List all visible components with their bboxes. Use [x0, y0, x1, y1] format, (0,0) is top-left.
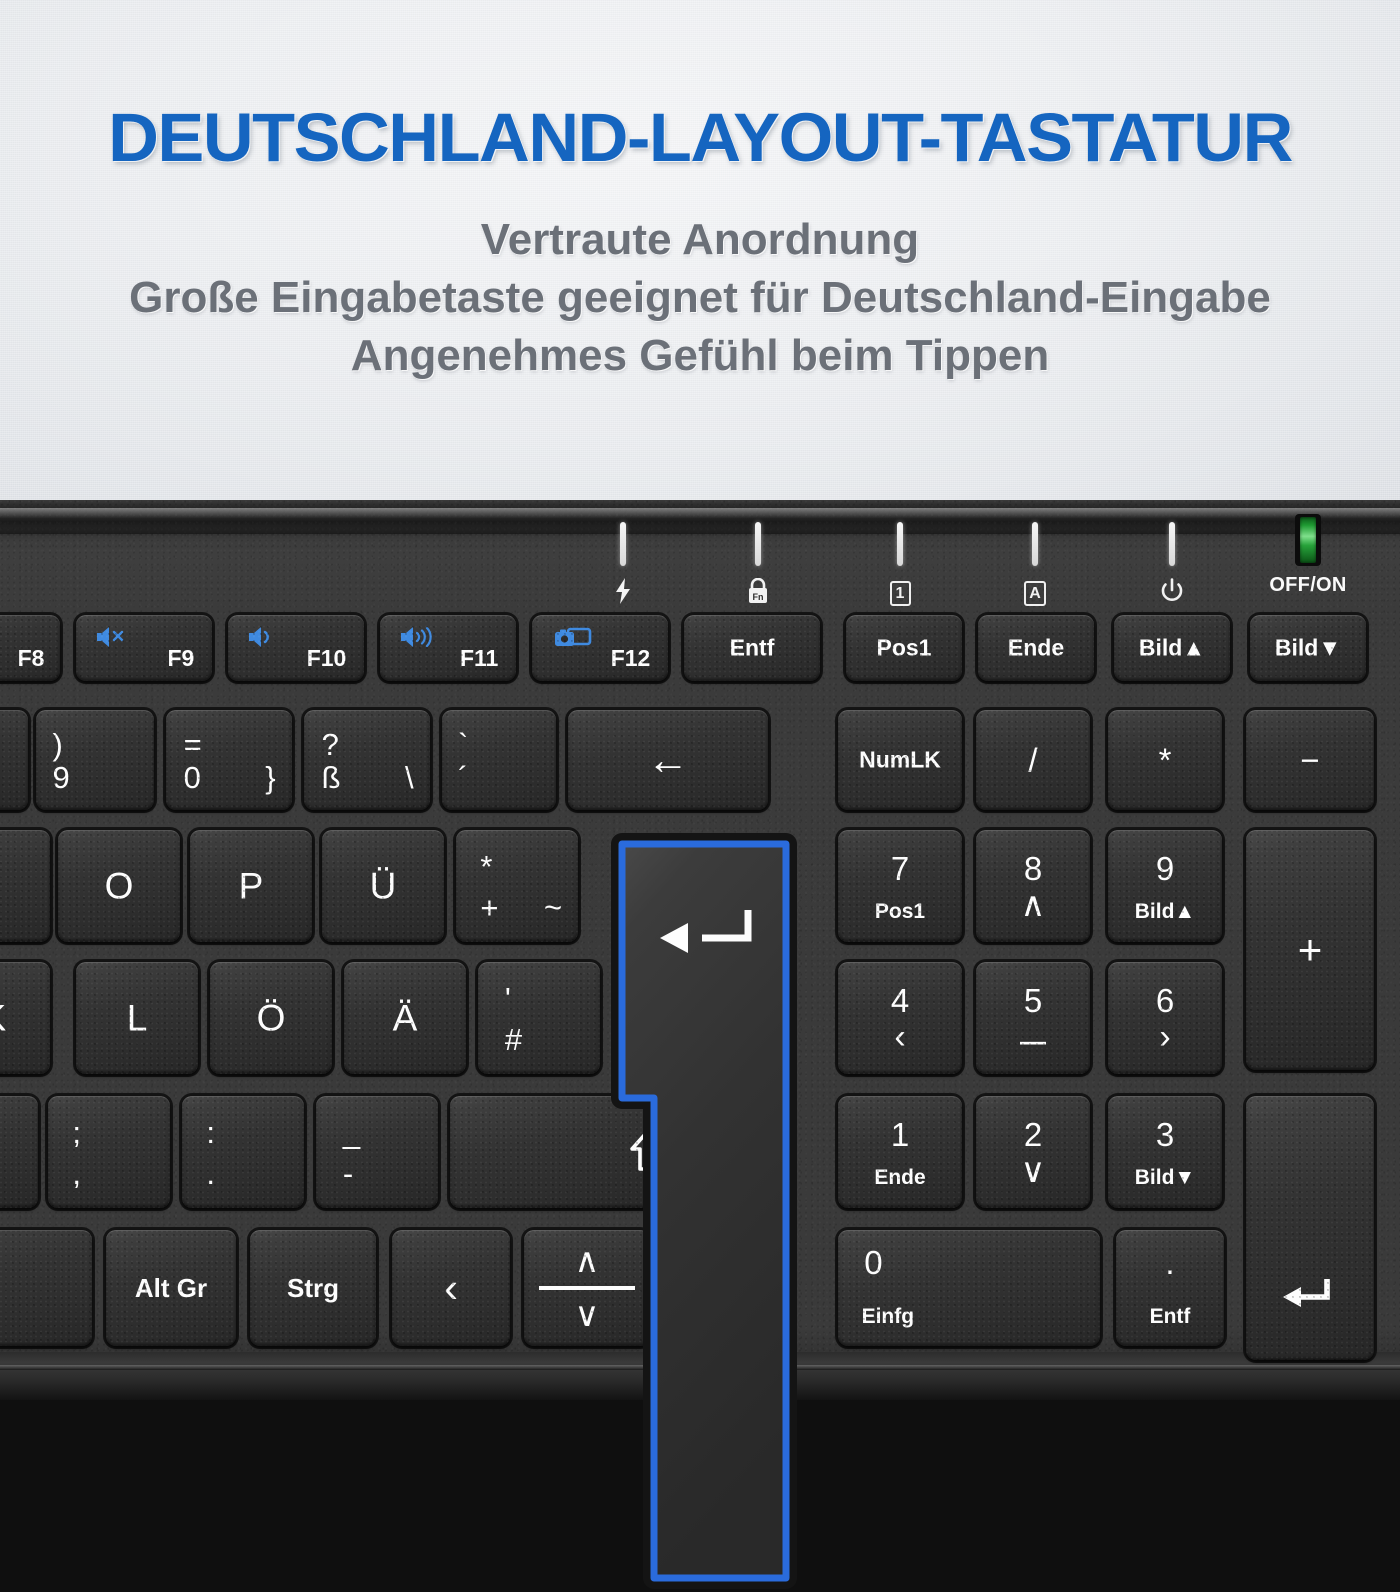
key-0[interactable]: = 0 }	[166, 710, 292, 810]
key-underscore[interactable]: _ -	[316, 1096, 438, 1208]
key-arrow-right[interactable]: ›	[664, 1230, 782, 1346]
key-0-bottom-label: 0	[184, 762, 201, 793]
key-numpad-multiply-label: *	[1108, 744, 1222, 777]
key-plus-top-label: *	[480, 851, 492, 882]
key-numpad-decimal-label: .	[1116, 1246, 1224, 1279]
num-lock-icon: 1	[855, 578, 945, 604]
arrow-up-icon: ∧	[524, 1244, 650, 1278]
key-9-top-label: )	[53, 729, 63, 760]
key-uumlaut[interactable]: Ü	[322, 830, 444, 942]
key-pos1-label: Pos1	[846, 637, 962, 660]
key-bild-down-label: Bild▼	[1250, 637, 1366, 660]
key-bild-up-label: Bild▲	[1114, 637, 1230, 660]
key-numpad-4-label: 4	[838, 984, 962, 1017]
key-numpad-9-sub: Bild▲	[1108, 901, 1222, 922]
key-hash-bottom-label: #	[505, 1024, 522, 1055]
subtitle-line-2: Große Eingabetaste geeignet für Deutschl…	[0, 273, 1400, 323]
key-9-bottom-label: 9	[53, 762, 70, 793]
arrow-key-divider	[539, 1286, 635, 1290]
key-uumlaut-label: Ü	[322, 868, 444, 905]
key-numpad-9[interactable]: 9 Bild▲	[1108, 830, 1222, 942]
key-numpad-6-sub: ›	[1108, 1020, 1222, 1054]
key-semicolon-bottom-label: ,	[72, 1158, 81, 1189]
key-numpad-1-sub: Ende	[838, 1167, 962, 1188]
key-p[interactable]: P	[190, 830, 312, 942]
padlock-fn-glyph: Fn	[745, 578, 771, 606]
fn-lock-icon: Fn	[713, 578, 803, 604]
screenshot-icon	[554, 626, 594, 657]
keyboard-front-edge	[0, 1352, 1400, 1400]
key-numpad-9-label: 9	[1108, 852, 1222, 885]
key-numpad-0-label: 0	[864, 1246, 882, 1279]
shift-arrow-glyph	[630, 1128, 666, 1172]
key-plus-bottom-label: +	[480, 892, 498, 923]
key-strg-right-label: Strg	[250, 1275, 376, 1301]
key-eszett-top-label: ?	[322, 729, 339, 760]
key-numpad-decimal-sub: Entf	[1116, 1306, 1224, 1327]
key-numpad-7-label: 7	[838, 852, 962, 885]
key-bild-down[interactable]: Bild▼	[1250, 615, 1366, 681]
numpad-enter-arrow-icon	[1281, 1277, 1339, 1311]
key-enter[interactable]	[608, 830, 800, 1592]
key-ende-label: Ende	[978, 637, 1094, 660]
promo-banner: DEUTSCHLAND-LAYOUT-TASTATUR Vertraute An…	[0, 0, 1400, 508]
key-numpad-enter[interactable]	[1246, 1096, 1374, 1360]
caps-lock-box-label: A	[1024, 581, 1046, 606]
key-plus-tilde-label: ~	[544, 892, 562, 923]
key-aumlaut[interactable]: Ä	[344, 962, 466, 1074]
key-numpad-minus-label: −	[1246, 744, 1374, 777]
key-numpad-0[interactable]: 0 Einfg	[838, 1230, 1100, 1346]
key-p-label: P	[190, 868, 312, 905]
key-f12[interactable]: F12	[532, 615, 668, 681]
key-numpad-4[interactable]: 4 ‹	[838, 962, 962, 1074]
key-numpad-0-sub: Einfg	[862, 1306, 915, 1327]
arrow-right-icon: ›	[664, 1267, 782, 1309]
key-semicolon-top-label: ;	[72, 1117, 81, 1148]
key-alt-gr[interactable]: Alt Gr	[106, 1230, 236, 1346]
key-numpad-8-label: 8	[976, 852, 1090, 885]
key-numpad-2-label: 2	[976, 1118, 1090, 1151]
key-numpad-7-sub: Pos1	[838, 901, 962, 922]
key-f8-label: F8	[18, 647, 45, 670]
indicator-fn-lock: Fn	[713, 522, 803, 604]
key-arrow-updown[interactable]: ∧ ∨	[524, 1230, 650, 1346]
key-numpad-5[interactable]: 5 —	[976, 962, 1090, 1074]
key-numpad-5-label: 5	[976, 984, 1090, 1017]
key-aumlaut-label: Ä	[344, 1000, 466, 1037]
key-numpad-divide[interactable]: /	[976, 710, 1090, 810]
key-numpad-2-sub: ∨	[976, 1154, 1090, 1188]
key-numpad-plus-label: +	[1246, 929, 1374, 971]
key-accent-bottom-label: ´	[458, 762, 468, 793]
lightning-bolt-icon	[578, 578, 668, 604]
keyboard-deck-highlight	[0, 1365, 1400, 1370]
key-underscore-top-label: _	[343, 1117, 360, 1148]
indicator-charging	[578, 522, 668, 604]
key-numpad-6[interactable]: 6 ›	[1108, 962, 1222, 1074]
key-m[interactable]	[0, 1096, 38, 1208]
key-o-label: O	[58, 868, 180, 905]
key-bild-up[interactable]: Bild▲	[1114, 615, 1230, 681]
key-numpad-4-sub: ‹	[838, 1020, 962, 1054]
key-f8[interactable]: F8	[0, 615, 60, 681]
key-eszett-bottom-right-label: \	[405, 762, 414, 793]
key-oumlaut-label: Ö	[210, 1000, 332, 1037]
key-backspace[interactable]: ←	[568, 710, 768, 810]
key-shift-right[interactable]	[450, 1096, 690, 1208]
key-backspace-label: ←	[568, 739, 768, 781]
power-switch-indicator	[1300, 517, 1316, 563]
key-numpad-3[interactable]: 3 Bild▼	[1108, 1096, 1222, 1208]
key-k[interactable]: K	[0, 962, 50, 1074]
volume-high-icon	[398, 624, 436, 655]
key-enter-shape	[608, 830, 800, 1592]
key-colon-bottom-label: .	[206, 1158, 215, 1189]
key-0-top-label: =	[184, 729, 202, 760]
key-8-alt[interactable]	[0, 710, 28, 810]
key-numpad-plus[interactable]: +	[1246, 830, 1374, 1070]
key-numpad-6-label: 6	[1108, 984, 1222, 1017]
key-strg-right[interactable]: Strg	[250, 1230, 376, 1346]
shift-arrow-icon	[630, 1128, 666, 1176]
subtitle-line-3: Angenehmes Gefühl beim Tippen	[0, 331, 1400, 381]
volume-low-icon	[246, 624, 280, 655]
key-numpad-1-label: 1	[838, 1118, 962, 1151]
arrow-left-icon: ‹	[392, 1267, 510, 1309]
key-f9-label: F9	[167, 647, 194, 670]
volume-mute-icon	[94, 624, 128, 655]
key-f10-label: F10	[307, 647, 347, 670]
subtitle-line-1: Vertraute Anordnung	[0, 215, 1400, 265]
caps-lock-icon: A	[990, 578, 1080, 604]
svg-text:Fn: Fn	[753, 592, 764, 602]
key-i[interactable]	[0, 830, 50, 942]
key-oumlaut[interactable]: Ö	[210, 962, 332, 1074]
key-underscore-bottom-label: -	[343, 1158, 353, 1189]
key-numpad-enter-label	[1246, 1276, 1374, 1318]
power-led	[1169, 522, 1175, 566]
fn-lock-led	[755, 522, 761, 566]
key-f11-label: F11	[460, 647, 498, 670]
key-o[interactable]: O	[58, 830, 180, 942]
key-numlock-label: NumLK	[838, 749, 962, 772]
power-switch-rocker[interactable]	[1295, 514, 1321, 566]
key-l-label: L	[76, 1000, 198, 1037]
key-f12-label: F12	[611, 647, 651, 670]
key-0-bottom-right-label: }	[265, 762, 275, 793]
key-numpad-5-sub: —	[976, 1028, 1090, 1054]
charging-led	[620, 522, 626, 566]
key-numpad-3-sub: Bild▼	[1108, 1167, 1222, 1188]
key-numpad-1[interactable]: 1 Ende	[838, 1096, 962, 1208]
num-lock-led	[897, 522, 903, 566]
key-9[interactable]: ) 9	[36, 710, 154, 810]
power-icon	[1127, 578, 1217, 604]
key-numlock[interactable]: NumLK	[838, 710, 962, 810]
power-switch[interactable]: OFF/ON	[1253, 514, 1363, 597]
key-numpad-multiply[interactable]: *	[1108, 710, 1222, 810]
indicator-num-lock: 1	[855, 522, 945, 604]
indicator-caps-lock: A	[990, 522, 1080, 604]
key-l[interactable]: L	[76, 962, 198, 1074]
key-numpad-8-sub: ∧	[976, 888, 1090, 922]
lightning-bolt-glyph	[614, 578, 632, 604]
key-hash[interactable]: ' #	[478, 962, 600, 1074]
key-space[interactable]	[0, 1230, 92, 1346]
indicator-strip: Fn 1 A	[0, 500, 1400, 600]
key-ende[interactable]: Ende	[978, 615, 1094, 681]
key-colon[interactable]: : .	[182, 1096, 304, 1208]
key-numpad-minus[interactable]: −	[1246, 710, 1374, 810]
key-eszett[interactable]: ? ß \	[304, 710, 430, 810]
caps-lock-led	[1032, 522, 1038, 566]
key-semicolon[interactable]: ; ,	[48, 1096, 170, 1208]
keyboard-body: Fn 1 A	[0, 500, 1400, 1400]
key-numpad-decimal[interactable]: . Entf	[1116, 1230, 1224, 1346]
key-alt-gr-label: Alt Gr	[106, 1275, 236, 1301]
key-f11[interactable]: F11	[380, 615, 516, 681]
num-lock-box-label: 1	[890, 581, 911, 606]
power-symbol-glyph	[1160, 578, 1184, 604]
key-arrow-left[interactable]: ‹	[392, 1230, 510, 1346]
key-pos1[interactable]: Pos1	[846, 615, 962, 681]
key-numpad-7[interactable]: 7 Pos1	[838, 830, 962, 942]
key-numpad-divide-label: /	[976, 744, 1090, 777]
key-k-label: K	[0, 1000, 50, 1037]
key-f9[interactable]: F9	[76, 615, 212, 681]
key-colon-top-label: :	[206, 1117, 215, 1148]
arrow-down-icon: ∨	[524, 1298, 650, 1332]
key-f10[interactable]: F10	[228, 615, 364, 681]
page-title: DEUTSCHLAND-LAYOUT-TASTATUR	[0, 98, 1400, 177]
key-entf-label: Entf	[684, 637, 820, 660]
indicator-power	[1127, 522, 1217, 604]
key-numpad-8[interactable]: 8 ∧	[976, 830, 1090, 942]
key-entf[interactable]: Entf	[684, 615, 820, 681]
key-accent-top-label: `	[458, 729, 468, 760]
key-numpad-2[interactable]: 2 ∨	[976, 1096, 1090, 1208]
key-plus[interactable]: * + ~	[456, 830, 578, 942]
key-accent[interactable]: ` ´	[442, 710, 556, 810]
key-numpad-3-label: 3	[1108, 1118, 1222, 1151]
power-switch-label: OFF/ON	[1253, 574, 1363, 597]
key-hash-top-label: '	[505, 983, 511, 1014]
key-eszett-bottom-label: ß	[322, 762, 341, 793]
